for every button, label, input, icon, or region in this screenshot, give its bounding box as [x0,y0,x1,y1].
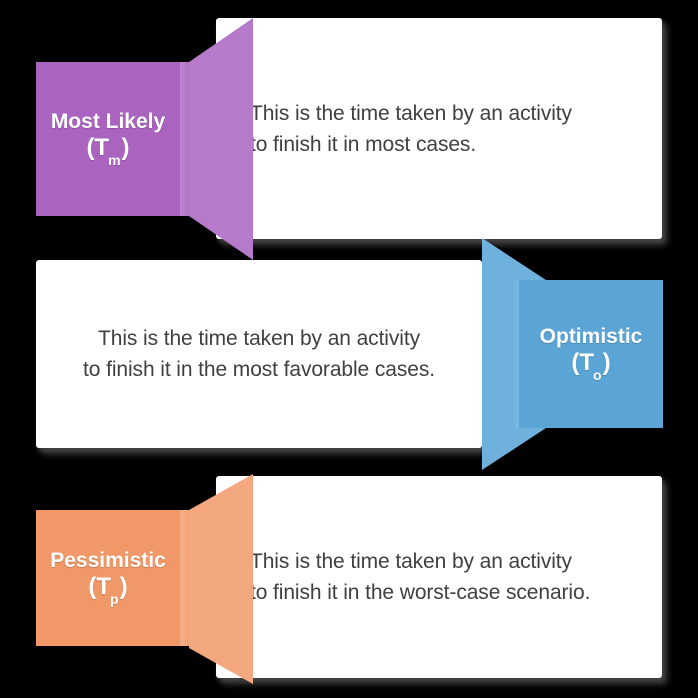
tab-body-pessimistic: Pessimistic (Tp) [36,510,180,646]
diagram-canvas: This is the time taken by an activity to… [0,0,698,698]
tab-label-most-likely: Most Likely (Tm) [51,109,165,169]
label-tab-optimistic[interactable]: Optimistic (To) [482,280,663,428]
diagram-row-pessimistic: This is the time taken by an activity to… [0,458,698,698]
tab-label-symbol-optimistic: (To) [540,350,643,384]
symbol-close-most-likely: ) [122,134,130,161]
label-tab-most-likely[interactable]: Most Likely (Tm) [36,62,216,216]
tab-label-symbol-pessimistic: (Tp) [50,574,166,608]
tab-seam-most-likely [180,62,189,216]
description-text-optimistic: This is the time taken by an activity to… [36,323,482,385]
tab-label-title-pessimistic: Pessimistic [50,549,166,572]
symbol-open-pessimistic: (T [88,573,111,600]
tab-label-optimistic: Optimistic (To) [540,324,643,384]
tab-body-optimistic: Optimistic (To) [519,280,663,428]
description-card-most-likely: This is the time taken by an activity to… [216,18,662,239]
symbol-subscript-most-likely: m [108,152,120,168]
description-card-optimistic: This is the time taken by an activity to… [36,260,482,448]
symbol-close-pessimistic: ) [120,573,128,600]
tab-label-pessimistic: Pessimistic (Tp) [50,548,166,608]
tab-seam-optimistic [510,280,519,428]
description-text-most-likely: This is the time taken by an activity to… [216,98,662,160]
tab-label-title-most-likely: Most Likely [51,110,165,133]
symbol-subscript-pessimistic: p [110,591,119,607]
tab-wedge-most-likely [189,18,253,260]
diagram-row-optimistic: This is the time taken by an activity to… [0,250,698,450]
tab-wedge-pessimistic [189,474,253,684]
symbol-open-most-likely: (T [86,134,109,161]
description-card-pessimistic: This is the time taken by an activity to… [216,476,662,678]
tab-label-symbol-most-likely: (Tm) [51,135,165,169]
symbol-subscript-optimistic: o [593,367,602,383]
tab-seam-pessimistic [180,510,189,646]
label-tab-pessimistic[interactable]: Pessimistic (Tp) [36,510,216,646]
description-text-pessimistic: This is the time taken by an activity to… [216,546,662,608]
tab-label-title-optimistic: Optimistic [540,325,643,348]
diagram-row-most-likely: This is the time taken by an activity to… [0,0,698,250]
tab-body-most-likely: Most Likely (Tm) [36,62,180,216]
symbol-close-optimistic: ) [603,349,611,376]
symbol-open-optimistic: (T [571,349,594,376]
